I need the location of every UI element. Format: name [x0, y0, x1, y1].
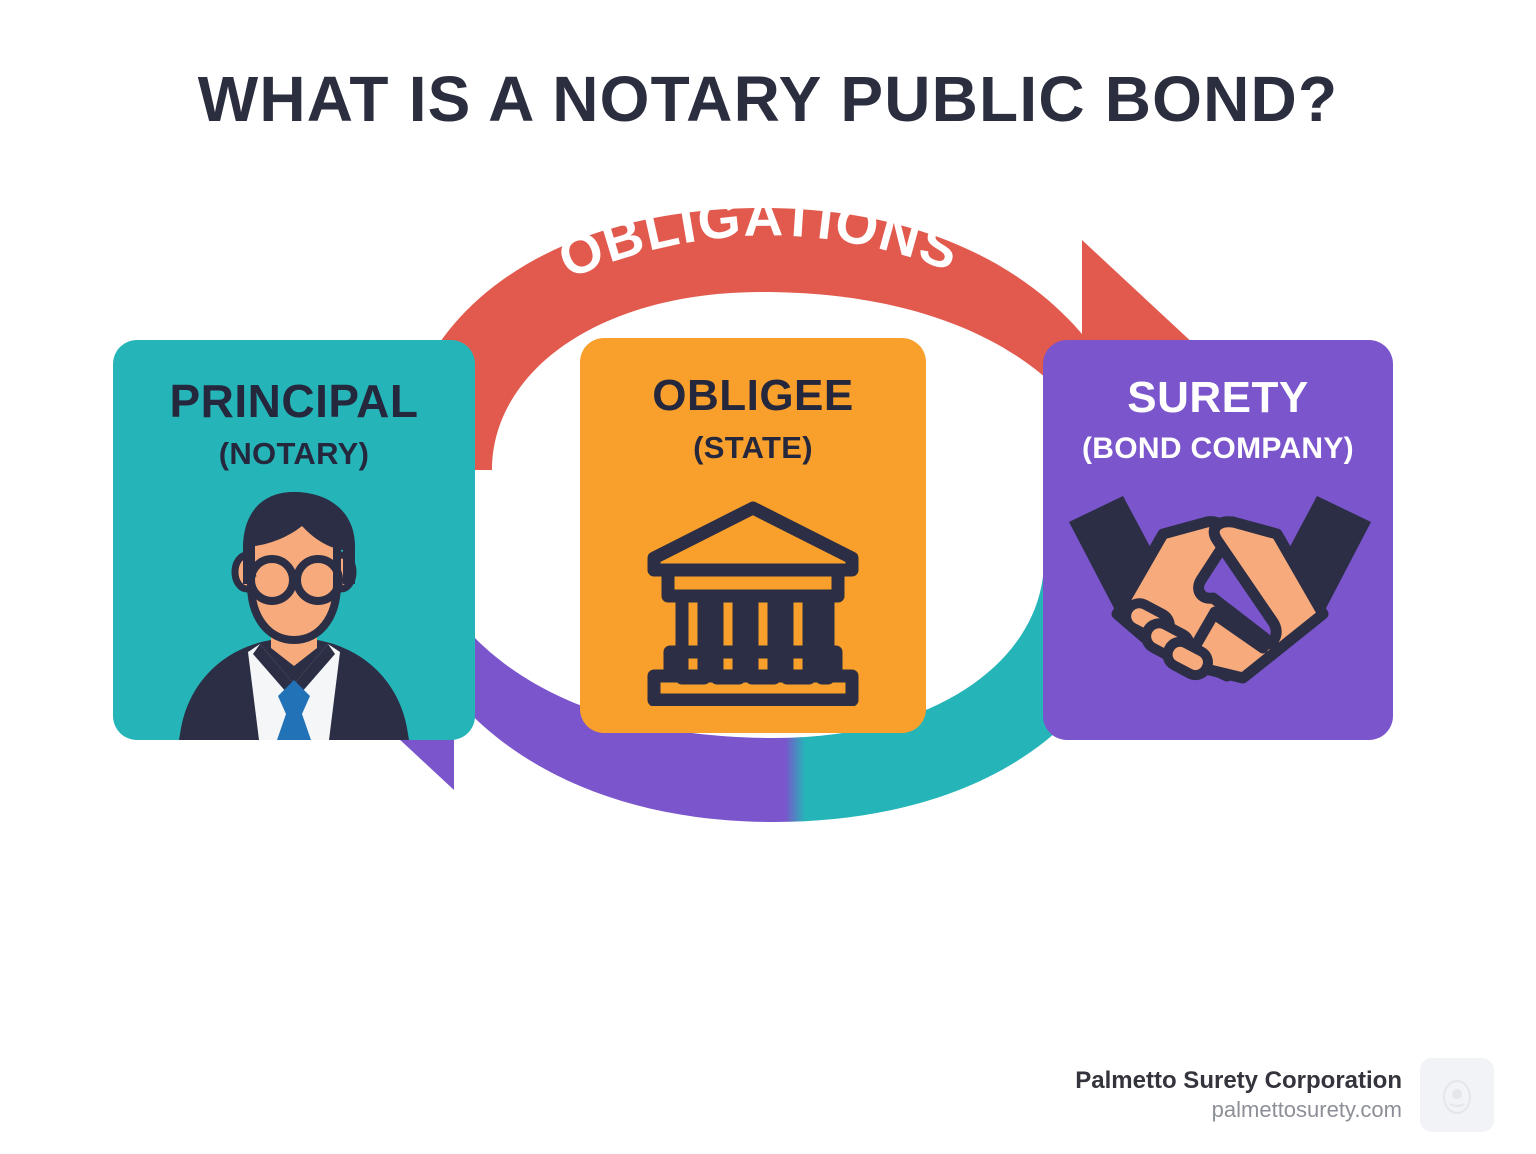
card-principal-title: PRINCIPAL [170, 378, 419, 424]
card-principal[interactable]: PRINCIPAL (NOTARY) [113, 340, 475, 740]
card-obligee[interactable]: OBLIGEE (STATE) [580, 338, 926, 733]
businessman-avatar-icon [169, 488, 419, 740]
bond-relationship-diagram: OBLIGATIONS CLAIMS PRINCIPAL (NOTARY) [0, 0, 1536, 1000]
handshake-icon [1067, 488, 1373, 684]
footer-text: Palmetto Surety Corporation palmettosure… [1075, 1066, 1402, 1125]
card-obligee-subtitle: (STATE) [693, 432, 813, 463]
card-surety[interactable]: SURETY (BOND COMPANY) [1043, 340, 1393, 740]
footer-company-name: Palmetto Surety Corporation [1075, 1066, 1402, 1096]
palmetto-logo-placeholder [1420, 1058, 1494, 1132]
palmetto-emblem-icon [1439, 1073, 1475, 1117]
footer-website-url[interactable]: palmettosurety.com [1075, 1096, 1402, 1125]
courthouse-bank-icon [646, 500, 860, 706]
card-principal-subtitle: (NOTARY) [219, 438, 369, 469]
card-surety-subtitle: (BOND COMPANY) [1082, 434, 1354, 464]
card-obligee-title: OBLIGEE [652, 374, 854, 418]
card-surety-title: SURETY [1127, 376, 1308, 420]
footer: Palmetto Surety Corporation palmettosure… [1075, 1058, 1494, 1132]
infographic-canvas: WHAT IS A NOTARY PUBLIC BOND? OBLIGATION… [0, 0, 1536, 1154]
